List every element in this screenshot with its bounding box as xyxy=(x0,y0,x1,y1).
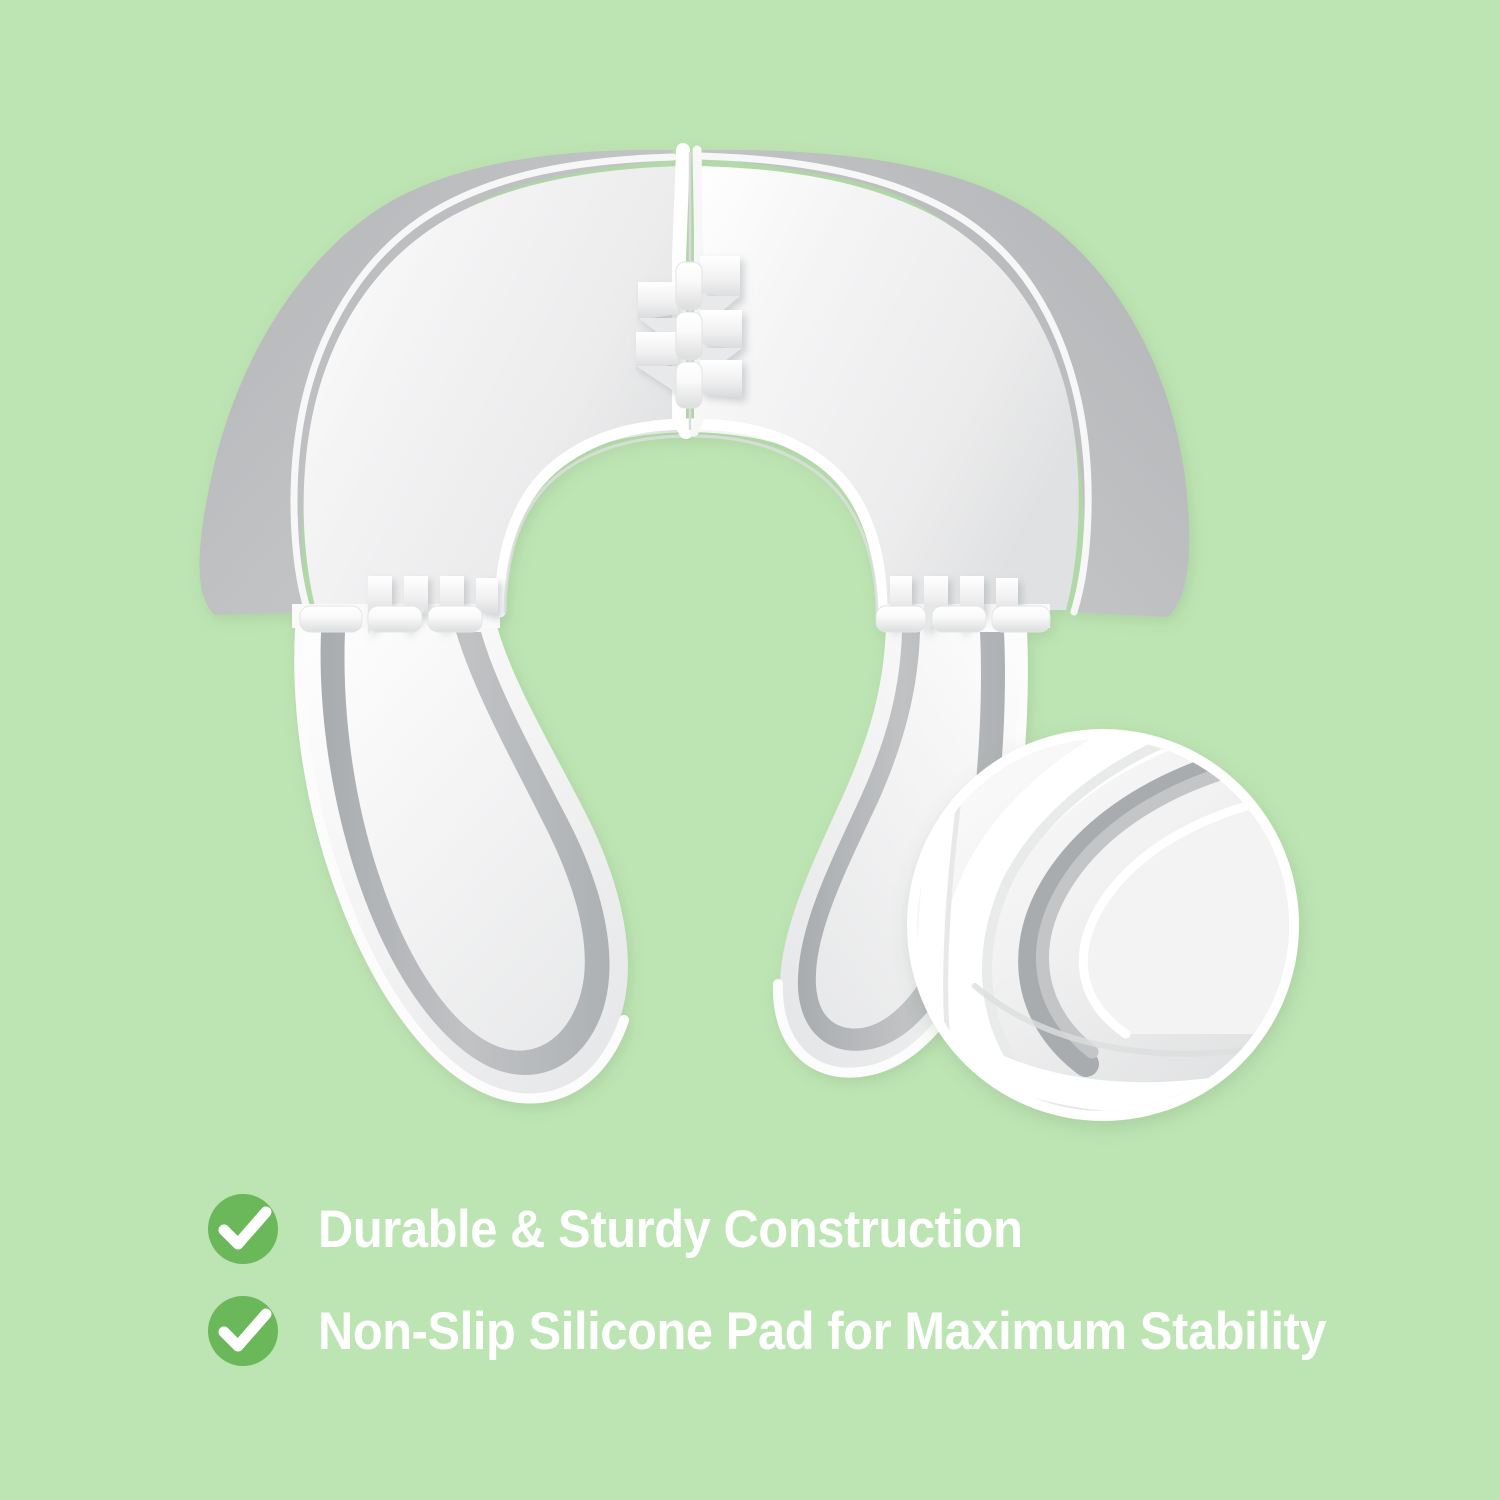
feature-list: Durable & Sturdy Construction Non-Slip S… xyxy=(205,1178,1405,1382)
feature-label: Durable & Sturdy Construction xyxy=(318,1203,1023,1256)
product-marketing-image: Durable & Sturdy Construction Non-Slip S… xyxy=(0,0,1500,1500)
center-hinge-knuckles xyxy=(676,262,702,408)
check-circle-icon xyxy=(205,1293,281,1369)
feature-item-durable: Durable & Sturdy Construction xyxy=(205,1178,1405,1280)
check-circle-icon xyxy=(205,1191,281,1267)
center-hinge-ribs-right xyxy=(700,256,742,398)
feature-label: Non-Slip Silicone Pad for Maximum Stabil… xyxy=(318,1305,1326,1358)
feature-item-nonslip: Non-Slip Silicone Pad for Maximum Stabil… xyxy=(205,1280,1405,1382)
